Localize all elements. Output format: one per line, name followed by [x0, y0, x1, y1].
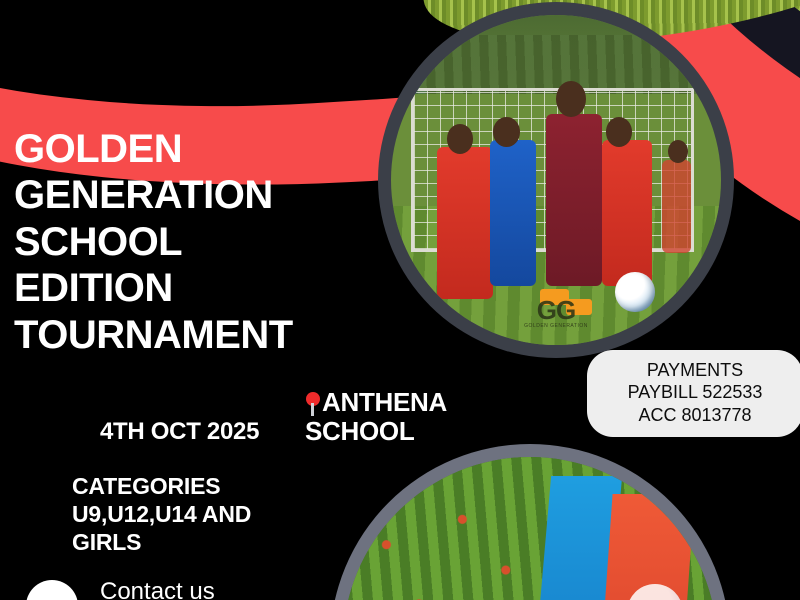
player-blue: [490, 140, 536, 285]
title-line-5: TOURNAMENT: [14, 312, 384, 358]
player-red-right: [602, 140, 652, 285]
title-line-1: GOLDEN: [14, 126, 384, 172]
player-head: [447, 124, 473, 154]
player-red-left: [437, 147, 493, 299]
location-pin-icon: [305, 392, 320, 416]
player-head: [606, 117, 632, 147]
field-background: [343, 457, 717, 600]
contact-label: Contact us: [100, 578, 215, 600]
payments-badge: PAYMENTS PAYBILL 522533 ACC 8013778: [587, 350, 800, 437]
categories-line-1: U9,U12,U14 AND: [72, 500, 251, 528]
categories-line-2: GIRLS: [72, 528, 251, 556]
football-action-photo: GG GOLDEN GENERATION: [378, 2, 734, 358]
event-venue: ANTHENA SCHOOL: [305, 388, 535, 446]
venue-line-1: ANTHENA: [322, 387, 447, 417]
gg-watermark-caption: GOLDEN GENERATION: [524, 323, 588, 329]
player-head: [556, 81, 586, 117]
title-line-4: EDITION: [14, 265, 384, 311]
flowers: [343, 494, 560, 600]
venue-line-2: SCHOOL: [305, 416, 414, 446]
player-background: [662, 160, 692, 252]
categories-heading: CATEGORIES: [72, 472, 251, 500]
title-line-2: GENERATION: [14, 172, 384, 218]
football-ball: [615, 272, 655, 312]
gg-watermark-mark: GG: [524, 297, 588, 323]
pitch-background: GG GOLDEN GENERATION: [391, 15, 721, 345]
payments-paybill: PAYBILL 522533: [597, 381, 793, 403]
player-head: [493, 117, 519, 147]
gg-watermark: GG GOLDEN GENERATION: [524, 297, 588, 329]
football-action-photo-image: GG GOLDEN GENERATION: [391, 15, 721, 345]
poster-canvas: GG GOLDEN GENERATION GOLDEN GENERATION S…: [0, 0, 800, 600]
contact-badge-circle: [26, 580, 78, 600]
payments-account: ACC 8013778: [597, 404, 793, 426]
payments-heading: PAYMENTS: [597, 359, 793, 381]
pitch-trees: [391, 35, 721, 94]
title-line-3: SCHOOL: [14, 219, 384, 265]
sponsor-banner-red: [597, 494, 694, 600]
event-date: 4TH OCT 2025: [100, 418, 259, 446]
categories-block: CATEGORIES U9,U12,U14 AND GIRLS: [72, 472, 251, 556]
girls-football-photo: [330, 444, 730, 600]
girls-football-photo-image: [343, 457, 717, 600]
poster-title: GOLDEN GENERATION SCHOOL EDITION TOURNAM…: [14, 126, 384, 358]
player-maroon: [546, 114, 602, 286]
